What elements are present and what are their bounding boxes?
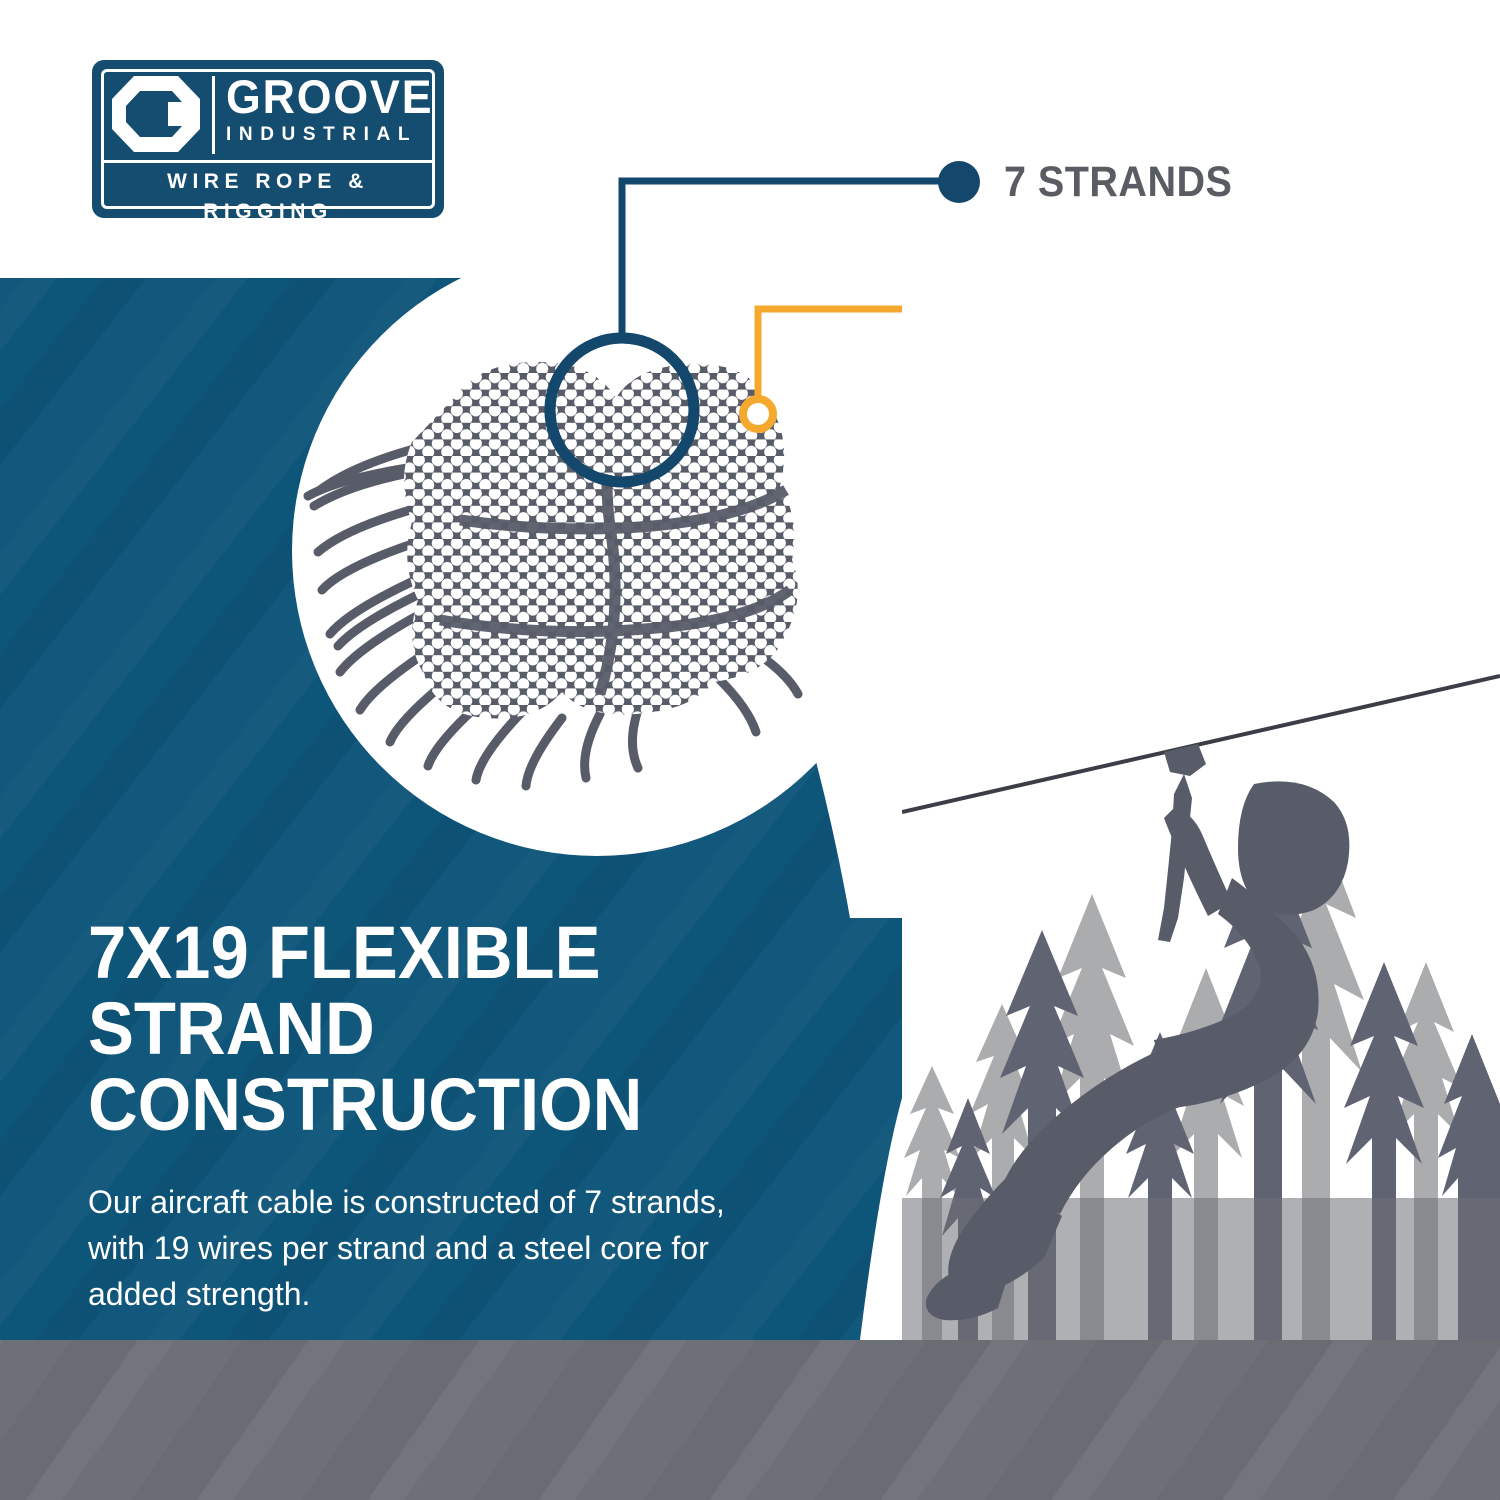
zipline-forest-scene xyxy=(902,278,1500,1340)
headline-line-1: 7X19 FLEXIBLE xyxy=(88,911,600,994)
headline-block: 7X19 FLEXIBLE STRAND CONSTRUCTION Our ai… xyxy=(88,915,878,1317)
bottom-gray-band xyxy=(0,1340,1500,1500)
logo-name: GROOVE xyxy=(226,72,422,122)
callout-7-strands[interactable]: 7 STRANDS xyxy=(938,160,1252,204)
logo-horizontal-rule xyxy=(104,160,432,163)
headline-line-2: STRAND CONSTRUCTION xyxy=(88,987,642,1146)
infographic-canvas: GROOVE INDUSTRIAL WIRE ROPE & RIGGING 7X… xyxy=(0,0,1500,1500)
callout-dot-navy-icon xyxy=(938,161,980,203)
callout-label-strands: 7 STRANDS xyxy=(1004,160,1232,204)
logo-top-row: GROOVE INDUSTRIAL xyxy=(104,72,432,156)
logo-divider xyxy=(212,76,215,154)
zipline-cable xyxy=(902,676,1500,812)
logo-subtitle: INDUSTRIAL xyxy=(226,124,432,146)
brand-logo[interactable]: GROOVE INDUSTRIAL WIRE ROPE & RIGGING xyxy=(92,60,444,218)
logo-wordmark: GROOVE INDUSTRIAL xyxy=(226,72,432,156)
bottom-band-stripe-texture xyxy=(0,1340,1500,1500)
headline-body-text: Our aircraft cable is constructed of 7 s… xyxy=(88,1179,758,1317)
wire-rope-cross-section-illustration xyxy=(300,290,860,810)
logo-tagline: WIRE ROPE & RIGGING xyxy=(104,167,432,197)
groove-g-mark-icon xyxy=(104,72,208,156)
